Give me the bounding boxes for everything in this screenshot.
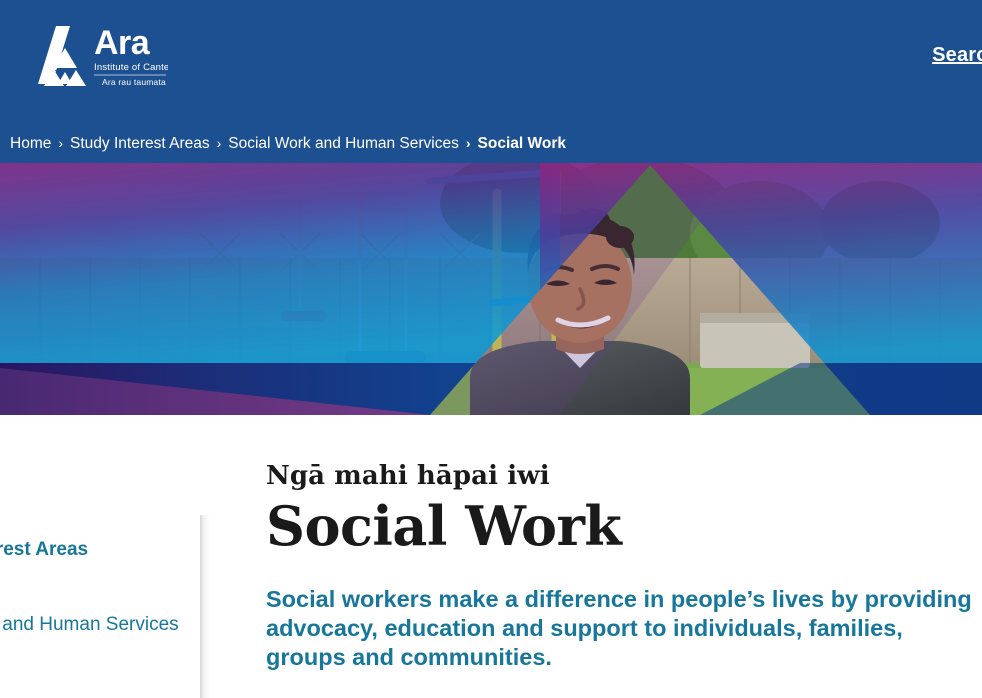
page-intro: Social workers make a difference in peop… xyxy=(266,585,972,672)
page-content: Ngā mahi hāpai iwi Social Work Social wo… xyxy=(266,415,982,672)
chevron-right-icon: › xyxy=(217,136,222,150)
breadcrumb-item-current: Social Work xyxy=(478,135,566,153)
chevron-right-icon: › xyxy=(58,136,63,150)
hero-gradient-overlay xyxy=(0,163,982,415)
breadcrumb-item-study-interest-areas[interactable]: Study Interest Areas xyxy=(70,135,210,153)
sidebar-item-social-work-and-human-services[interactable]: Social Work and Human Services xyxy=(0,613,179,637)
svg-text:Ara rau taumata rau: Ara rau taumata rau xyxy=(102,77,168,87)
page-eyebrow: Ngā mahi hāpai iwi xyxy=(266,461,982,491)
breadcrumb-item-home[interactable]: Home xyxy=(10,135,51,153)
svg-text:Institute of Canterbury: Institute of Canterbury xyxy=(94,62,168,73)
site-header: Ara Institute of Canterbury Ara rau taum… xyxy=(0,0,982,124)
hero-banner xyxy=(0,163,982,415)
sidebar-nav: Study Interest Areas Social Work and Hum… xyxy=(0,415,200,698)
sidebar-divider xyxy=(200,515,214,698)
sidebar-item-study-interest-areas[interactable]: Study Interest Areas xyxy=(0,538,88,562)
breadcrumb: Home › Study Interest Areas › Social Wor… xyxy=(0,124,982,163)
svg-text:Ara: Ara xyxy=(94,24,151,62)
breadcrumb-item-social-work-and-human-services[interactable]: Social Work and Human Services xyxy=(228,135,459,153)
hero-overlay-svg xyxy=(0,163,982,415)
chevron-right-icon: › xyxy=(466,136,471,150)
ara-logo[interactable]: Ara Institute of Canterbury Ara rau taum… xyxy=(18,22,168,94)
main-content: Study Interest Areas Social Work and Hum… xyxy=(0,415,982,698)
search-link[interactable]: Search xyxy=(932,44,982,67)
page-title: Social Work xyxy=(266,495,982,557)
ara-logo-svg: Ara Institute of Canterbury Ara rau taum… xyxy=(18,22,168,94)
